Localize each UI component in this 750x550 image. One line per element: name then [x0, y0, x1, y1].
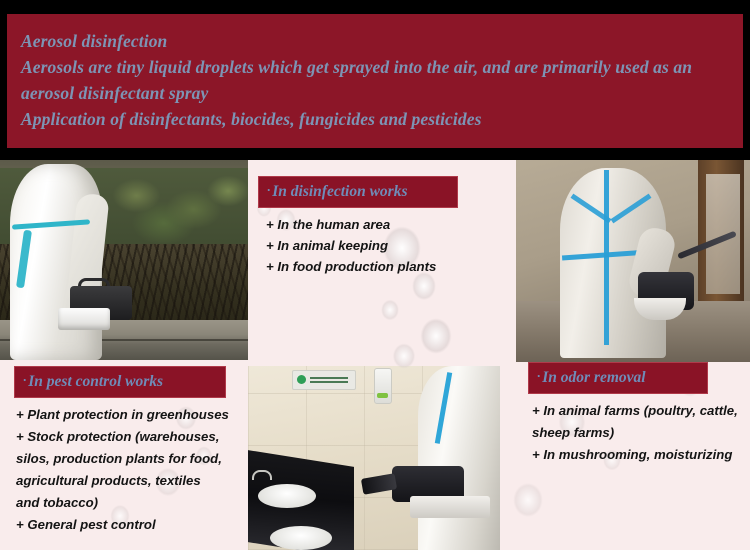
outdoor-scene [0, 160, 248, 360]
list-item: agricultural products, textiles [14, 470, 252, 492]
list-item: + General pest control [14, 514, 252, 536]
list-item: + Plant protection in greenhouses [14, 404, 252, 426]
header-banner: Aerosol disinfection Aerosols are tiny l… [7, 14, 743, 148]
panel-disinfection-body: + In the human area + In animal keeping … [258, 214, 508, 277]
restroom-soap-dispenser [374, 368, 392, 404]
list-item: + In the human area [258, 214, 508, 235]
photo-outdoor-spraying [0, 160, 248, 360]
restroom-faucet-icon [252, 470, 272, 480]
restroom-sink-lower [270, 526, 332, 550]
panel-odor-removal: ·In odor removal + In animal farms (poul… [528, 362, 748, 466]
panel-pest-control-works: ·In pest control works + Plant protectio… [14, 366, 252, 536]
panel-disinfection-works: ·In disinfection works + In the human ar… [258, 176, 508, 277]
panel-pest-title-bar: ·In pest control works [14, 366, 226, 398]
corridor-scene [516, 160, 750, 362]
panel-odor-body: + In animal farms (poultry, cattle, shee… [528, 400, 748, 466]
photo-restroom-spraying [248, 366, 500, 550]
panel-disinfection-title-bar: ·In disinfection works [258, 176, 458, 208]
slide-root: Aerosol disinfection Aerosols are tiny l… [0, 0, 750, 550]
panel-pest-title: In pest control works [28, 373, 163, 390]
header-band: Aerosol disinfection Aerosols are tiny l… [0, 0, 750, 160]
list-item: + In animal keeping [258, 235, 508, 256]
panel-odor-title: In odor removal [542, 369, 645, 386]
list-item: sheep farms) [528, 422, 748, 444]
outdoor-sprayer-tank [58, 308, 110, 330]
panel-disinfection-title: In disinfection works [272, 183, 407, 200]
list-item: + In mushrooming, moisturizing [528, 444, 748, 466]
restroom-worker-suit [418, 366, 500, 550]
panel-pest-body: + Plant protection in greenhouses + Stoc… [14, 404, 252, 536]
header-line-1: Aerosols are tiny liquid droplets which … [21, 54, 729, 80]
restroom-sink-upper [258, 484, 316, 508]
photo-corridor-spraying [516, 160, 750, 362]
restroom-wall-sign [292, 370, 356, 390]
list-item: and tobacco) [14, 492, 252, 514]
header-line-3: Application of disinfectants, biocides, … [21, 106, 729, 132]
list-item: + In food production plants [258, 256, 508, 277]
header-line-title: Aerosol disinfection [21, 28, 729, 54]
list-item: + Stock protection (warehouses, [14, 426, 252, 448]
restroom-sprayer-tank [410, 496, 490, 518]
list-item: silos, production plants for food, [14, 448, 252, 470]
list-item: + In animal farms (poultry, cattle, [528, 400, 748, 422]
panel-odor-title-bar: ·In odor removal [528, 362, 708, 394]
restroom-scene [248, 366, 500, 550]
header-line-2: aerosol disinfectant spray [21, 80, 729, 106]
